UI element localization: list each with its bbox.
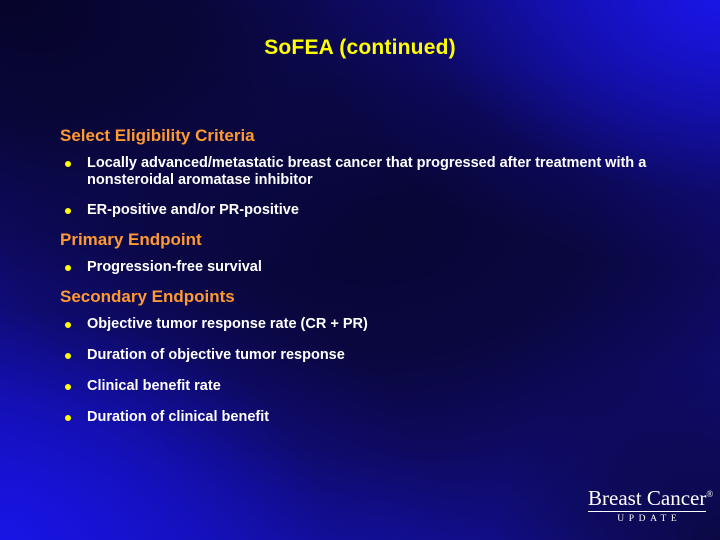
bullet-dot-icon <box>65 415 71 421</box>
slide-content: Select Eligibility Criteria Locally adva… <box>60 126 670 426</box>
spacer <box>60 307 670 316</box>
list-item-label: ER-positive and/or PR-positive <box>87 202 670 219</box>
section-primary-endpoint: Primary Endpoint Progression-free surviv… <box>60 230 670 276</box>
list-item-label: Objective tumor response rate (CR + PR) <box>87 316 670 333</box>
spacer <box>60 250 670 259</box>
logo-wordmark-text: Breast Cancer <box>588 486 706 510</box>
bullet-list: Progression-free survival <box>60 259 670 276</box>
bullet-dot-icon <box>65 384 71 390</box>
bullet-dot-icon <box>65 161 71 167</box>
logo-subtitle: UPDATE <box>588 514 706 525</box>
bullet-list: Objective tumor response rate (CR + PR) … <box>60 316 670 426</box>
list-item: Locally advanced/metastatic breast cance… <box>60 155 670 189</box>
breast-cancer-update-logo: Breast Cancer® UPDATE <box>588 487 706 525</box>
spacer <box>60 146 670 155</box>
bullet-dot-icon <box>65 208 71 214</box>
section-secondary-endpoints: Secondary Endpoints Objective tumor resp… <box>60 287 670 426</box>
spacer <box>60 395 670 409</box>
section-heading: Select Eligibility Criteria <box>60 126 670 146</box>
list-item-label: Duration of clinical benefit <box>87 409 670 426</box>
logo-wordmark: Breast Cancer® <box>588 487 713 509</box>
list-item-label: Locally advanced/metastatic breast cance… <box>87 155 670 189</box>
bullet-dot-icon <box>65 265 71 271</box>
list-item: Objective tumor response rate (CR + PR) <box>60 316 670 333</box>
spacer <box>60 219 670 230</box>
spacer <box>60 333 670 347</box>
bullet-dot-icon <box>65 353 71 359</box>
spacer <box>60 364 670 378</box>
list-item-label: Clinical benefit rate <box>87 378 670 395</box>
section-select-eligibility-criteria: Select Eligibility Criteria Locally adva… <box>60 126 670 219</box>
list-item: ER-positive and/or PR-positive <box>60 202 670 219</box>
list-item-label: Progression-free survival <box>87 259 670 276</box>
list-item: Duration of clinical benefit <box>60 409 670 426</box>
list-item-label: Duration of objective tumor response <box>87 347 670 364</box>
list-item: Progression-free survival <box>60 259 670 276</box>
spacer <box>60 189 670 202</box>
section-heading: Secondary Endpoints <box>60 287 670 307</box>
bullet-list: Locally advanced/metastatic breast cance… <box>60 155 670 219</box>
section-heading: Primary Endpoint <box>60 230 670 250</box>
logo-divider <box>588 511 706 512</box>
slide-title: SoFEA (continued) <box>0 36 720 60</box>
list-item: Clinical benefit rate <box>60 378 670 395</box>
presentation-slide: SoFEA (continued) Select Eligibility Cri… <box>0 0 720 540</box>
spacer <box>60 276 670 287</box>
registered-trademark-icon: ® <box>706 489 713 499</box>
list-item: Duration of objective tumor response <box>60 347 670 364</box>
bullet-dot-icon <box>65 322 71 328</box>
